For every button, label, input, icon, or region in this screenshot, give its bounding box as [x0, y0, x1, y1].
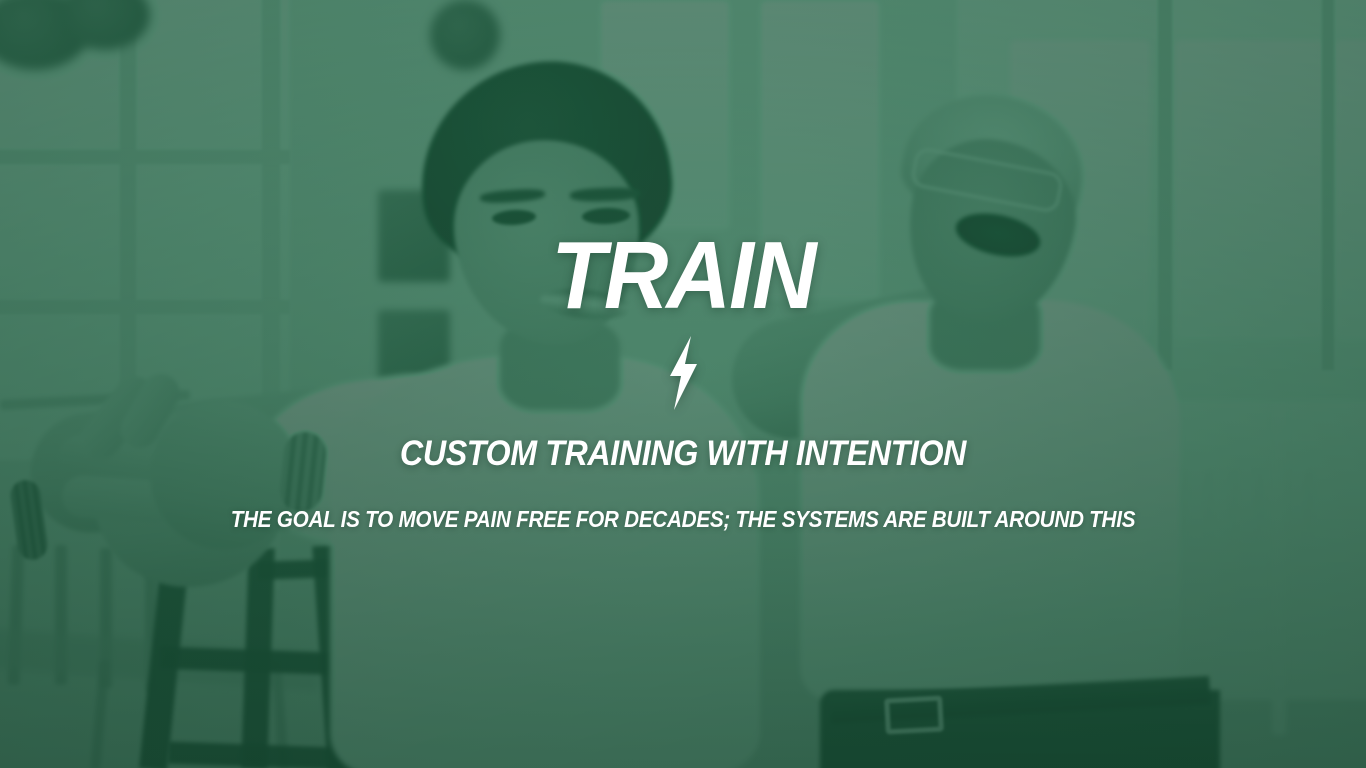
hero-text-overlay: TRAIN CUSTOM TRAINING WITH INTENTION THE…: [0, 0, 1366, 768]
lightning-bolt-icon: [0, 336, 1366, 410]
hero-title: TRAIN: [48, 232, 1318, 320]
hero-subtitle: CUSTOM TRAINING WITH INTENTION: [55, 436, 1312, 471]
hero-banner: TRAIN CUSTOM TRAINING WITH INTENTION THE…: [0, 0, 1366, 768]
hero-tagline: THE GOAL IS TO MOVE PAIN FREE FOR DECADE…: [68, 508, 1297, 531]
